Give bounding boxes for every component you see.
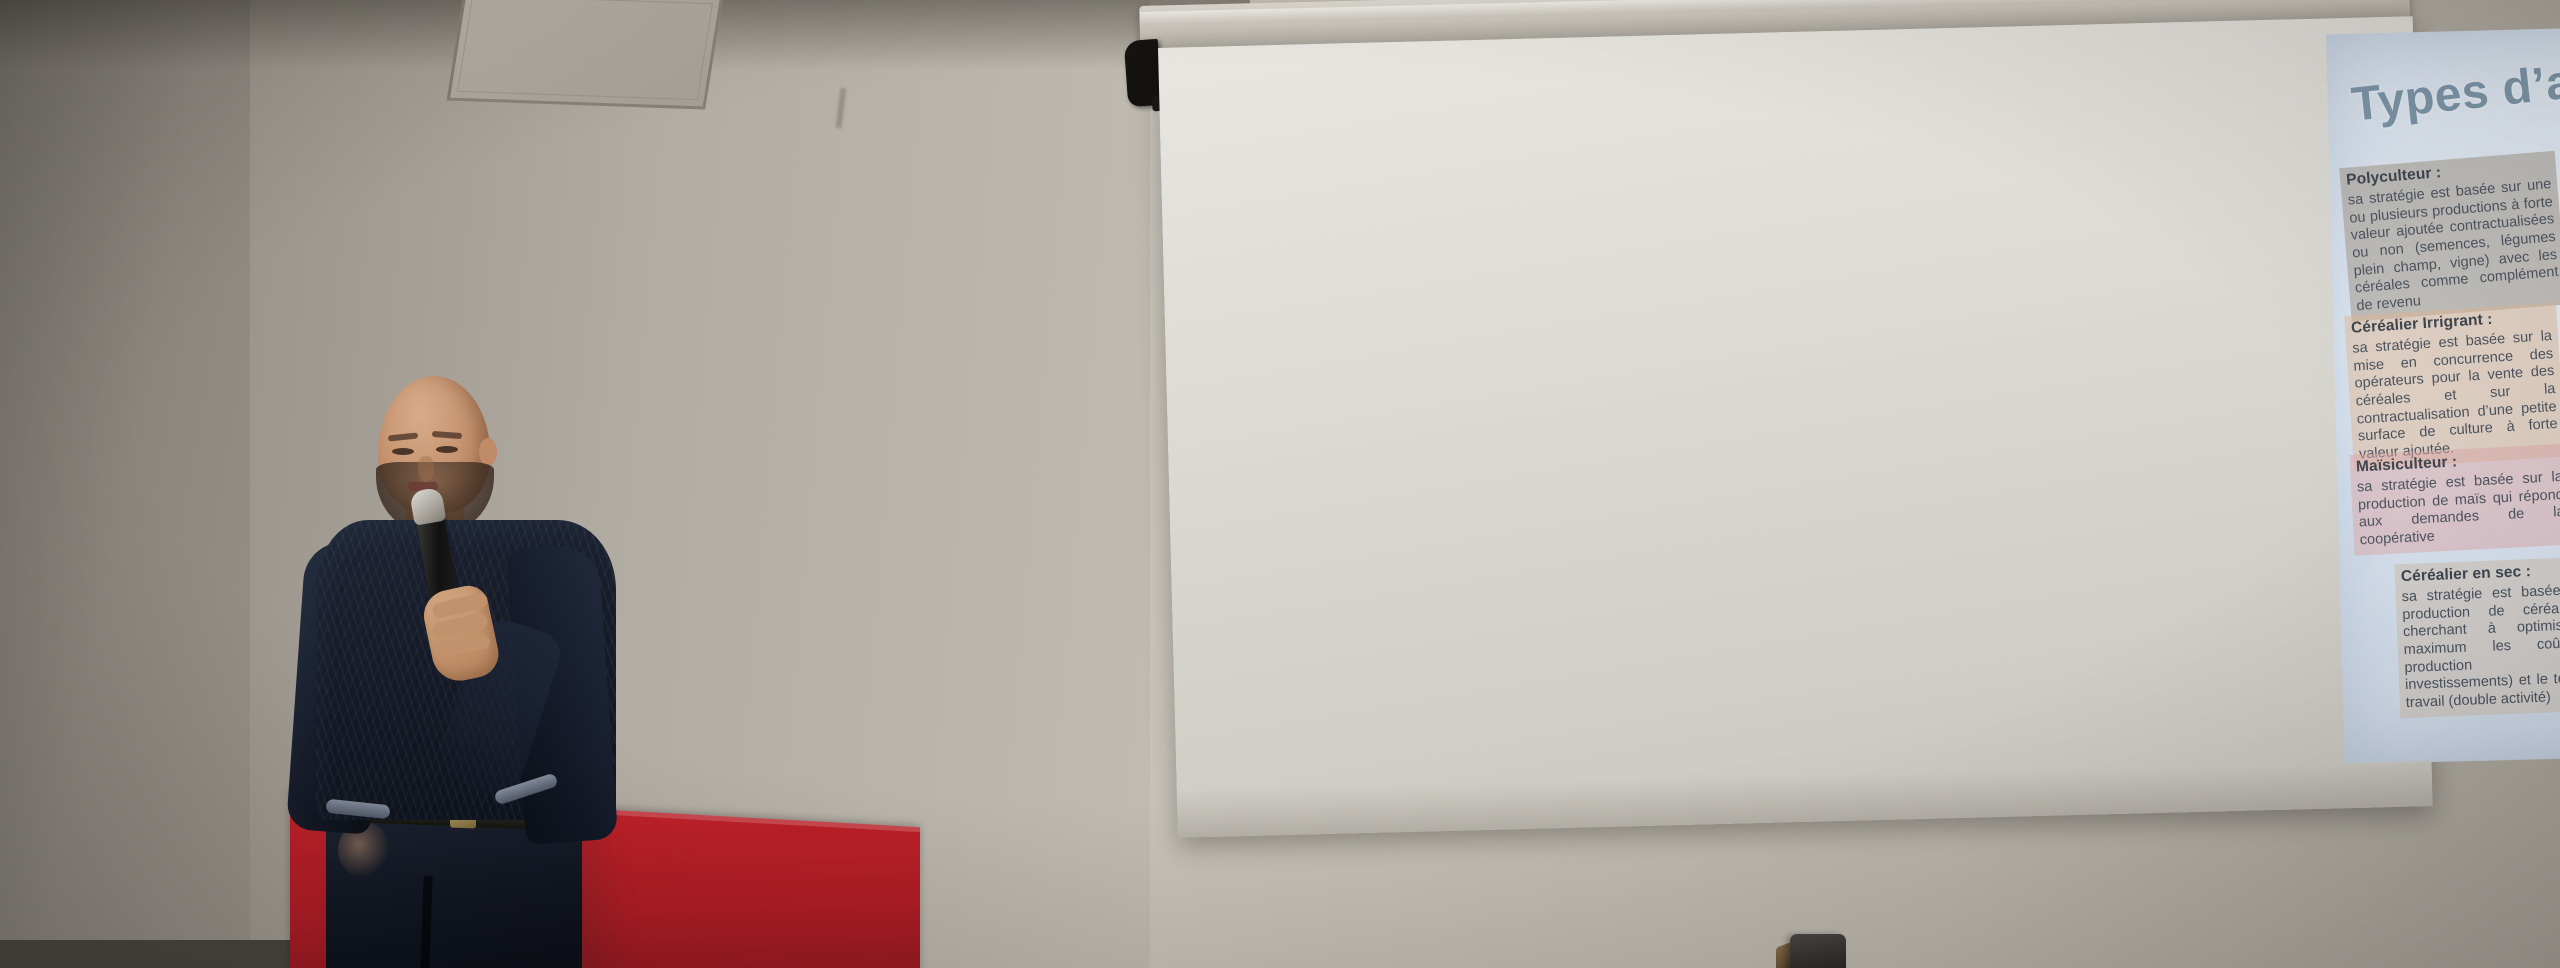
photo-scene: Types d’agricultures couvertes par les e… (0, 0, 2560, 968)
ceiling-access-panel (447, 0, 724, 110)
block-cerealier-irrigrant-body: sa stratégie est basée sur la mise en co… (2352, 328, 2559, 464)
block-polyculteur: Polyculteur : sa stratégie est basée sur… (2339, 151, 2560, 322)
presenter-eye-right (436, 446, 458, 453)
block-maisiculteur: Maïsiculteur : sa stratégie est basée su… (2349, 444, 2560, 556)
block-polyculteur-body: sa stratégie est basée sur une ou plusie… (2347, 176, 2560, 316)
projector-screen-end-cap (1124, 39, 1163, 107)
projector-screen: Types d’agricultures couvertes par les e… (1158, 16, 2433, 838)
presenter-nose (418, 456, 434, 482)
block-cerealier-en-sec-body: sa stratégie est basée sur la production… (2401, 581, 2560, 713)
presenter-ear (479, 438, 497, 466)
laptop-device (1790, 934, 1846, 968)
presenter-eye-left (392, 448, 414, 455)
block-maisiculteur-body: sa stratégie est basée sur la production… (2357, 469, 2560, 550)
presenter (280, 370, 660, 968)
block-cerealier-irrigrant: Céréalier Irrigrant : sa stratégie est b… (2344, 303, 2560, 470)
projected-slide: Types d’agricultures couvertes par les e… (2326, 3, 2560, 764)
block-cerealier-en-sec: Céréalier en sec : sa stratégie est basé… (2394, 556, 2560, 718)
floor-strip (0, 940, 300, 968)
